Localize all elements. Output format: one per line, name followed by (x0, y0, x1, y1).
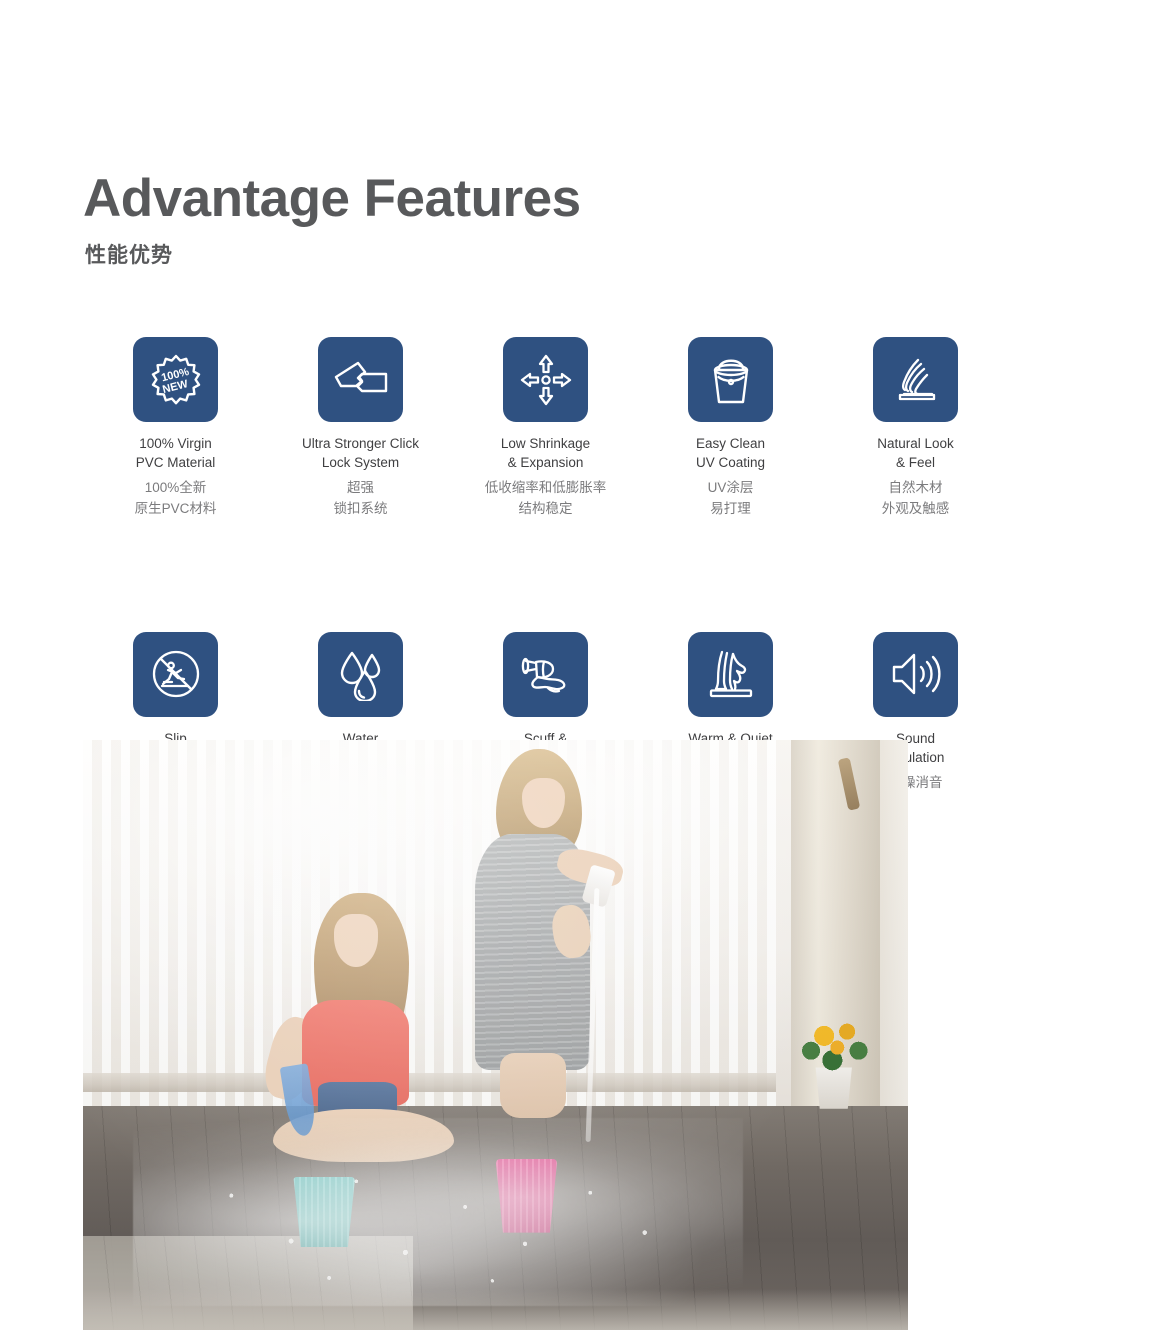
feature-label-zh: UV涂层 易打理 (708, 478, 754, 519)
feature-icon-tile (133, 632, 218, 717)
feature-item-easy-clean[interactable]: Easy Clean UV Coating UV涂层 易打理 (638, 337, 823, 519)
feature-label-en: Easy Clean UV Coating (696, 434, 765, 472)
water-droplets-icon (334, 647, 388, 701)
photo-sunflowers (793, 1020, 876, 1073)
feature-item-click-lock[interactable]: Ultra Stronger Click Lock System 超强 锁扣系统 (268, 337, 453, 519)
photo-drape-edge (880, 740, 908, 1129)
feature-icon-tile (873, 632, 958, 717)
click-lock-plank-icon (332, 355, 390, 405)
feature-item-natural-look[interactable]: Natural Look & Feel 自然木材 外观及触感 (823, 337, 1008, 519)
feature-label-en: Natural Look & Feel (877, 434, 954, 472)
photo-standing-girl-legs (500, 1053, 566, 1118)
feature-item-low-shrinkage[interactable]: Low Shrinkage & Expansion 低收缩率和低膨胀率 结构稳定 (453, 337, 638, 519)
feature-label-zh: 超强 锁扣系统 (334, 478, 388, 519)
no-slipping-person-icon (148, 646, 204, 702)
bucket-icon (705, 352, 757, 408)
feature-label-en: Ultra Stronger Click Lock System (302, 434, 419, 472)
feature-label-zh: 自然木材 外观及触感 (882, 478, 950, 519)
speaker-sound-waves-icon (888, 649, 944, 699)
feature-label-zh: 100%全新 原生PVC材料 (135, 478, 217, 519)
feature-icon-tile (688, 632, 773, 717)
feature-icon-tile (503, 632, 588, 717)
page-header: Advantage Features 性能优势 (83, 170, 783, 269)
feature-icon-tile (318, 632, 403, 717)
badge-100-percent-new-icon: 100% NEW (148, 352, 204, 408)
hand-touching-plank-icon (888, 354, 944, 406)
feature-icon-tile (688, 337, 773, 422)
feature-icon-tile (873, 337, 958, 422)
photo-water-droplets (166, 1153, 711, 1295)
feature-label-zh: 低收缩率和低膨胀率 结构稳定 (485, 478, 607, 519)
photo-floor-foreground (83, 1289, 908, 1330)
feature-icon-tile: 100% NEW (133, 337, 218, 422)
advantage-features-page: Advantage Features 性能优势 100% NEW 100% Vi… (0, 0, 1153, 1330)
lifestyle-photo (83, 740, 908, 1330)
spilled-wine-glass-icon (518, 650, 574, 698)
page-title: Advantage Features (83, 170, 783, 227)
feature-row-1: 100% NEW 100% Virgin PVC Material 100%全新… (83, 337, 947, 519)
feature-icon-tile (503, 337, 588, 422)
feature-icon-tile (318, 337, 403, 422)
feature-label-en: 100% Virgin PVC Material (136, 434, 216, 472)
photo-flower-pot (813, 1067, 854, 1108)
four-way-expansion-arrows-icon (519, 353, 573, 407)
photo-sheer-curtain (83, 740, 776, 1118)
photo-scene (83, 740, 908, 1330)
feature-label-en: Low Shrinkage & Expansion (501, 434, 590, 472)
feature-item-virgin-pvc[interactable]: 100% NEW 100% Virgin PVC Material 100%全新… (83, 337, 268, 519)
photo-window-sill (83, 1073, 776, 1092)
page-subtitle: 性能优势 (85, 239, 783, 269)
bare-feet-on-plank-icon (705, 647, 757, 701)
